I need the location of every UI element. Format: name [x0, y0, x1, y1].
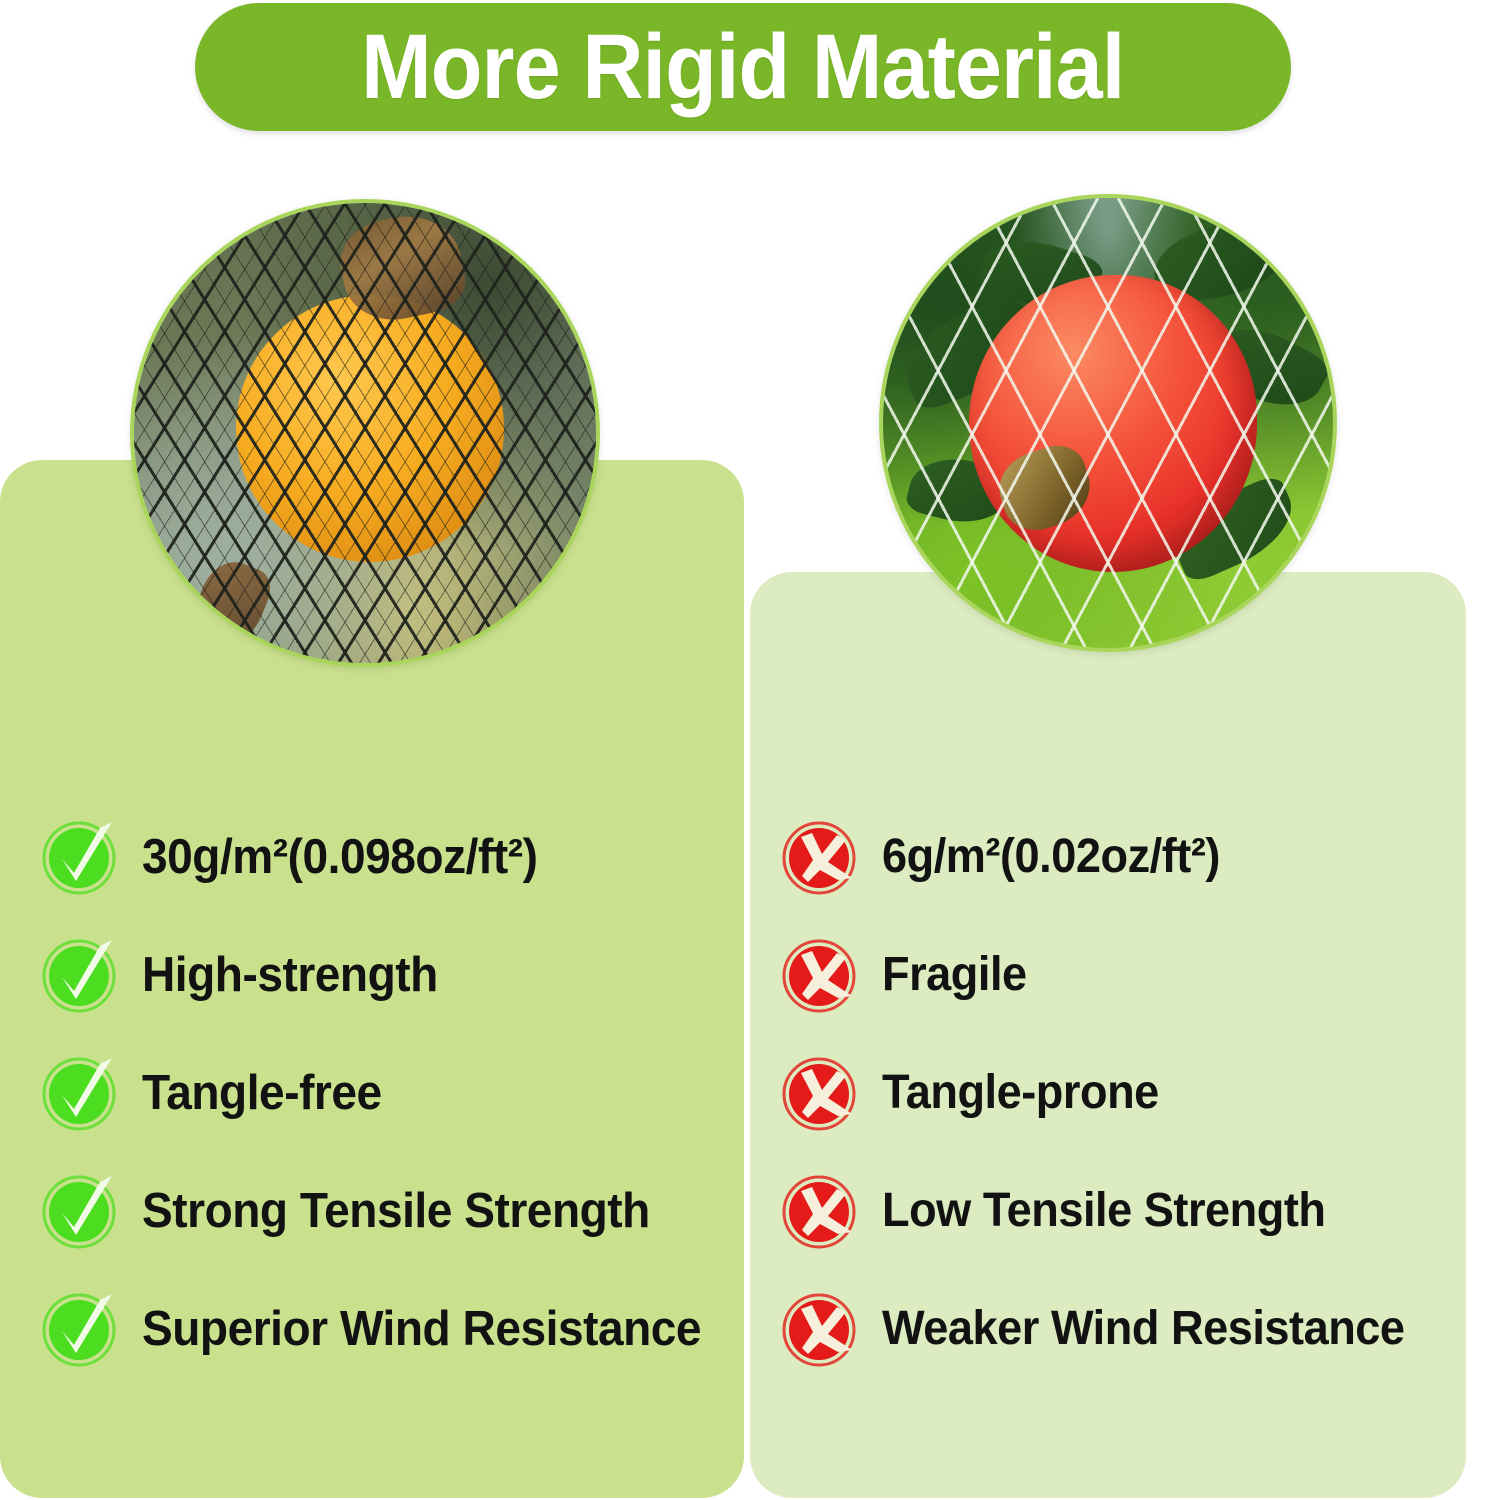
right-feature-list: 6g/m²(0.02oz/ft²) Fragile Tangle-prone [782, 798, 1472, 1388]
cross-icon [782, 1290, 860, 1368]
cross-icon [782, 936, 860, 1014]
feature-label: Tangle-prone [882, 1069, 1159, 1117]
list-item: Strong Tensile Strength [42, 1152, 742, 1270]
feature-label: 30g/m²(0.098oz/ft²) [142, 833, 537, 882]
card-divider [744, 572, 750, 1498]
feature-label: Tangle-free [142, 1069, 382, 1118]
cross-icon [782, 1054, 860, 1132]
list-item: Weaker Wind Resistance [782, 1270, 1472, 1388]
feature-label: Weaker Wind Resistance [882, 1305, 1405, 1353]
check-icon [42, 1290, 120, 1368]
left-product-photo [130, 199, 600, 667]
feature-label: High-strength [142, 951, 438, 1000]
list-item: 30g/m²(0.098oz/ft²) [42, 798, 742, 916]
right-product-photo [879, 194, 1337, 652]
feature-label: Superior Wind Resistance [142, 1305, 701, 1354]
check-icon [42, 818, 120, 896]
cross-icon [782, 1172, 860, 1250]
feature-label: 6g/m²(0.02oz/ft²) [882, 833, 1220, 881]
title-banner: More Rigid Material [195, 3, 1291, 131]
check-icon [42, 1054, 120, 1132]
page-title: More Rigid Material [361, 21, 1124, 113]
list-item: Tangle-prone [782, 1034, 1472, 1152]
check-icon [42, 936, 120, 1014]
list-item: Tangle-free [42, 1034, 742, 1152]
list-item: Fragile [782, 916, 1472, 1034]
check-icon [42, 1172, 120, 1250]
list-item: High-strength [42, 916, 742, 1034]
left-feature-list: 30g/m²(0.098oz/ft²) High-strength Tangle… [42, 798, 742, 1388]
feature-label: Strong Tensile Strength [142, 1187, 650, 1236]
feature-label: Low Tensile Strength [882, 1187, 1326, 1235]
list-item: Low Tensile Strength [782, 1152, 1472, 1270]
list-item: 6g/m²(0.02oz/ft²) [782, 798, 1472, 916]
net-mesh-icon [130, 199, 600, 667]
net-mesh-icon [879, 194, 1337, 652]
feature-label: Fragile [882, 951, 1027, 999]
list-item: Superior Wind Resistance [42, 1270, 742, 1388]
cross-icon [782, 818, 860, 896]
